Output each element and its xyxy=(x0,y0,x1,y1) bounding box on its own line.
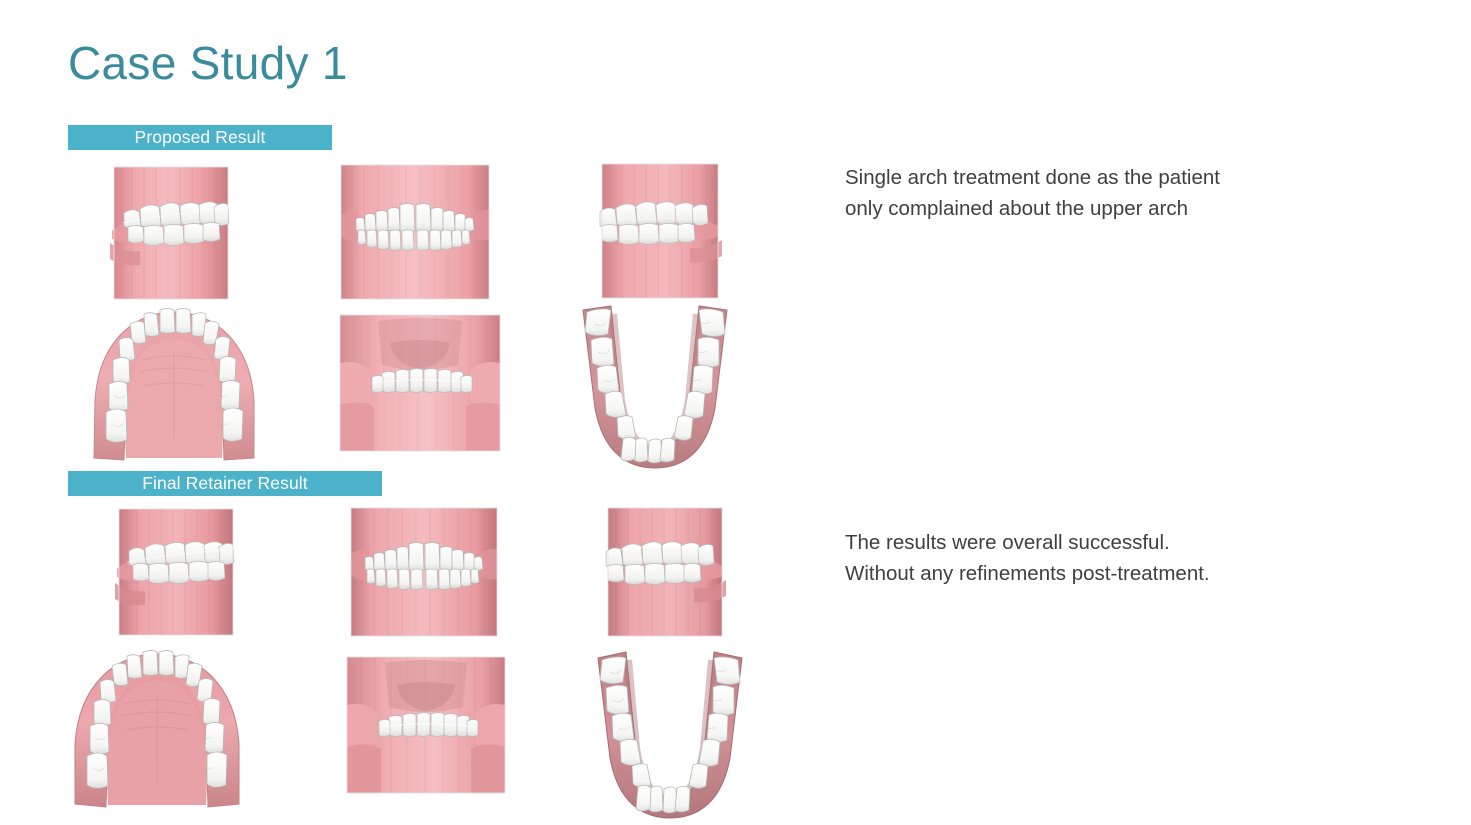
dental-model-lower-arch-occlusal-view-final xyxy=(582,650,758,820)
dental-model-frontal-occlusion-view-final xyxy=(348,506,500,638)
dental-model-anterior-overbite-view-final xyxy=(345,655,507,795)
note-line: The results were overall successful. xyxy=(845,527,1210,558)
model-grid-final xyxy=(0,0,1471,825)
note-final-retainer-result: The results were overall successful. Wit… xyxy=(845,527,1210,589)
dental-model-right-buccal-view-final xyxy=(600,506,728,638)
dental-model-left-buccal-view-final xyxy=(115,507,237,637)
dental-model-upper-arch-occlusal-view-final xyxy=(62,650,252,815)
note-line: Without any refinements post-treatment. xyxy=(845,558,1210,589)
